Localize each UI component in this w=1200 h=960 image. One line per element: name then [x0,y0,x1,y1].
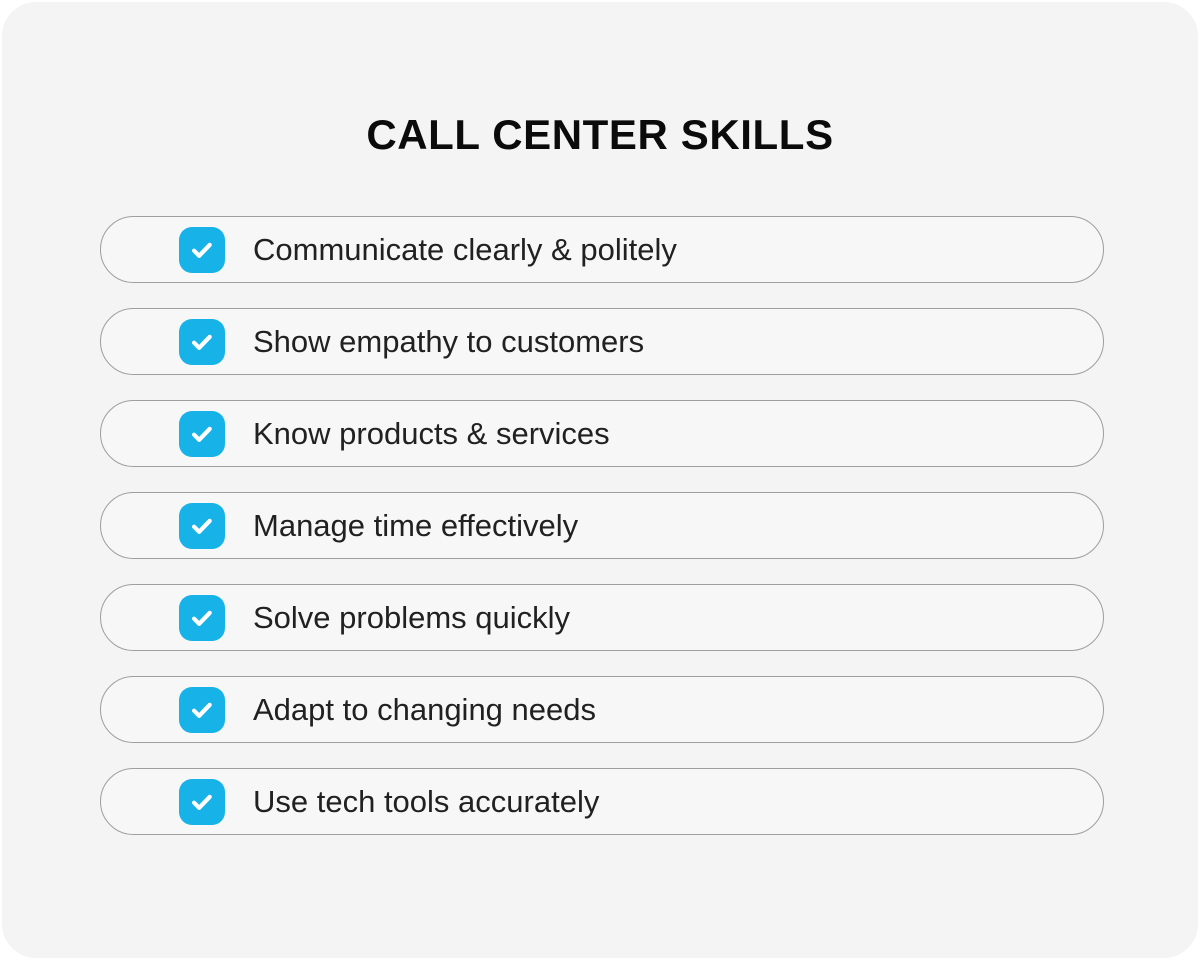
skills-card: CALL CENTER SKILLS Communicate clearly &… [2,2,1198,958]
checkbox-checked[interactable] [179,687,225,733]
list-item-label: Communicate clearly & politely [253,234,677,265]
checkbox-checked[interactable] [179,319,225,365]
list-item[interactable]: Show empathy to customers [100,308,1104,375]
list-item[interactable]: Manage time effectively [100,492,1104,559]
list-item[interactable]: Use tech tools accurately [100,768,1104,835]
list-item-label: Know products & services [253,418,610,449]
list-item[interactable]: Communicate clearly & politely [100,216,1104,283]
list-item-label: Manage time effectively [253,510,578,541]
check-icon [188,236,216,264]
screenshot-root: CALL CENTER SKILLS Communicate clearly &… [0,0,1200,960]
page-title: CALL CENTER SKILLS [2,114,1198,156]
list-item-label: Show empathy to customers [253,326,644,357]
checkbox-checked[interactable] [179,595,225,641]
checkbox-checked[interactable] [179,779,225,825]
list-item[interactable]: Solve problems quickly [100,584,1104,651]
list-item-label: Adapt to changing needs [253,694,596,725]
list-item[interactable]: Adapt to changing needs [100,676,1104,743]
check-icon [188,420,216,448]
checklist: Communicate clearly & politely Show empa… [100,216,1104,835]
list-item-label: Solve problems quickly [253,602,570,633]
check-icon [188,328,216,356]
check-icon [188,512,216,540]
check-icon [188,696,216,724]
list-item-label: Use tech tools accurately [253,786,599,817]
checkbox-checked[interactable] [179,503,225,549]
check-icon [188,604,216,632]
checkbox-checked[interactable] [179,227,225,273]
checkbox-checked[interactable] [179,411,225,457]
list-item[interactable]: Know products & services [100,400,1104,467]
check-icon [188,788,216,816]
